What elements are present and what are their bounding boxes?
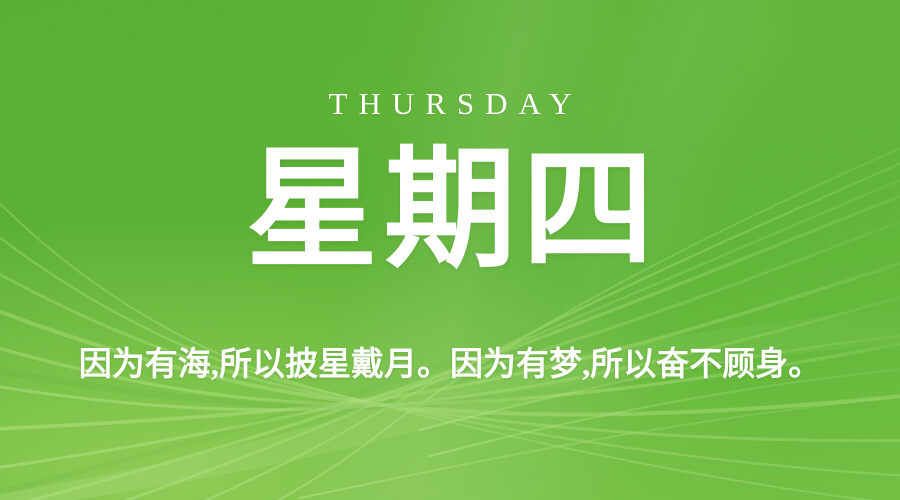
weekday-english-label: THURSDAY [318,88,583,119]
card-content: THURSDAY 星期四 [0,0,900,500]
daily-quote-text: 因为有海,所以披星戴月。因为有梦,所以奋不顾身。 [0,346,900,386]
weekday-chinese-title: 星期四 [240,137,660,285]
daily-greeting-card: THURSDAY 星期四 因为有海,所以披星戴月。因为有梦,所以奋不顾身。 [0,0,900,500]
